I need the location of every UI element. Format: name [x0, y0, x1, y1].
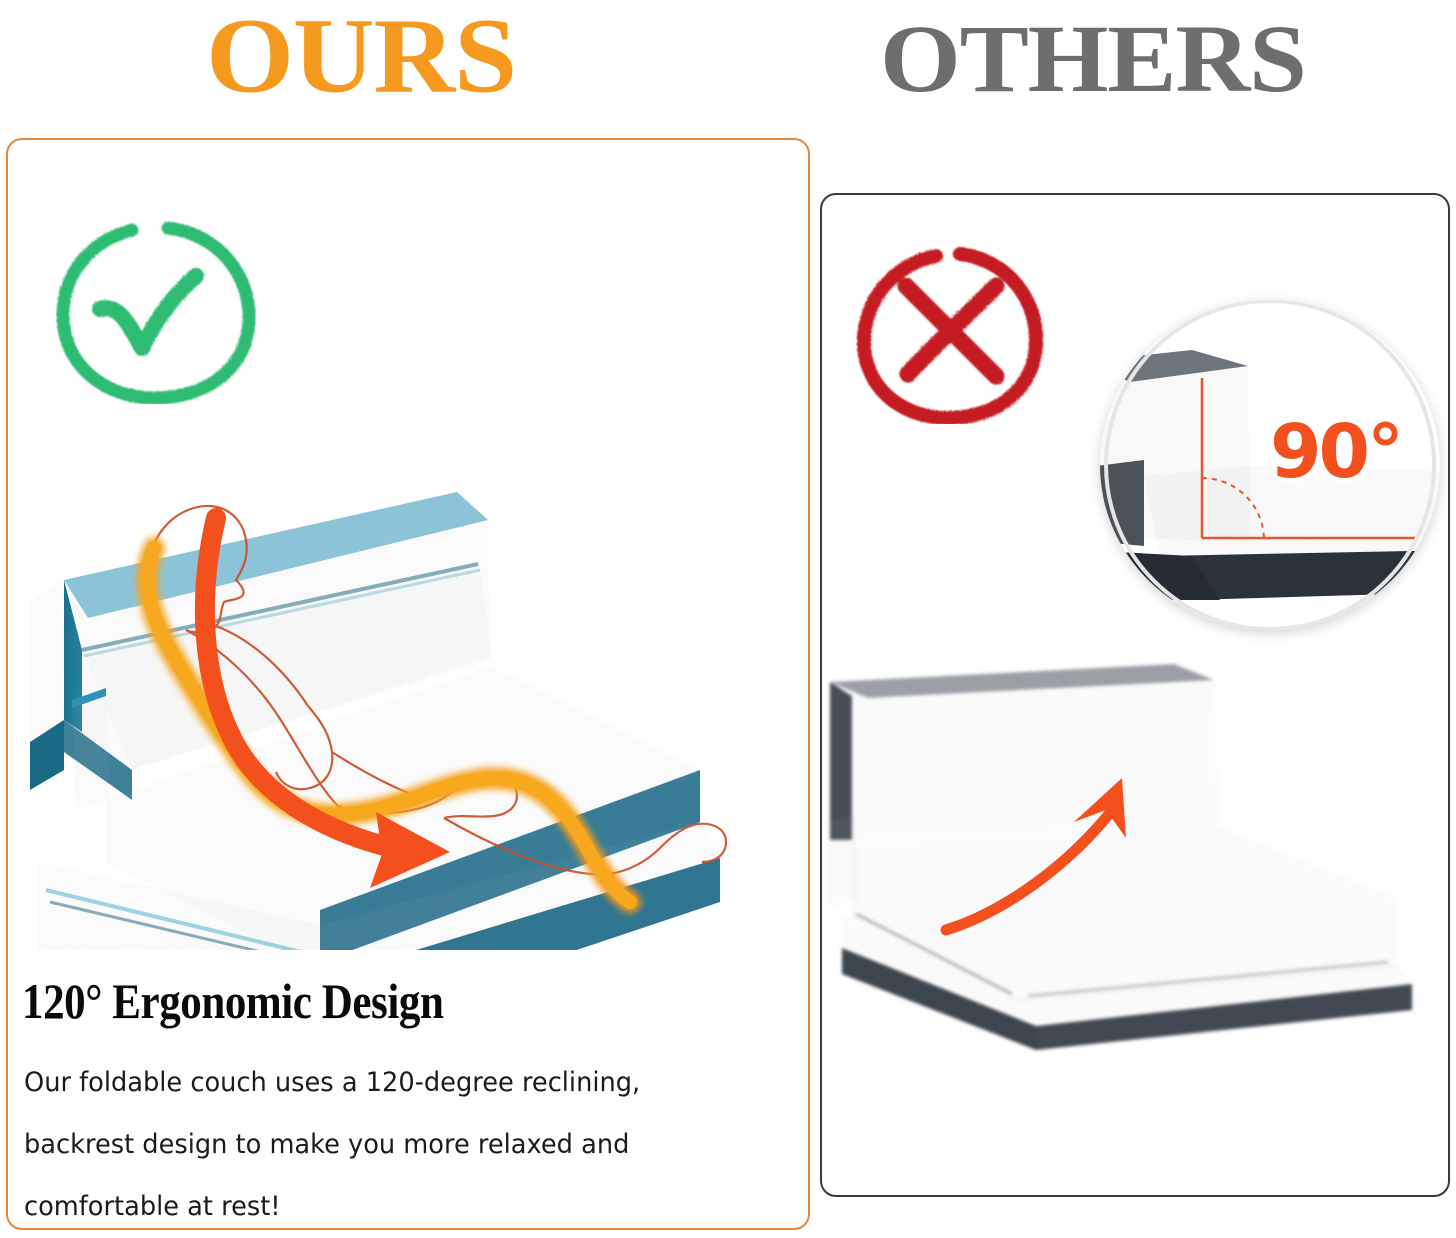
- check-circle-icon: [56, 214, 256, 404]
- teal-folding-sofa-bed: [20, 470, 760, 950]
- page-title: 120° Ergonomic Design: [22, 972, 676, 1030]
- feature-description: Our foldable couch uses a 120-degree rec…: [24, 1052, 756, 1238]
- feature-title-block: 120° Ergonomic Design: [22, 972, 782, 1030]
- x-circle-icon: [856, 244, 1046, 424]
- others-heading: OTHERS: [880, 12, 1306, 109]
- gray-folding-sofa-bed: [822, 630, 1442, 1070]
- ninety-degree-zoom-callout: 90°: [1100, 300, 1440, 630]
- ours-heading: OURS: [206, 2, 516, 110]
- angle-label: 90°: [1270, 415, 1401, 489]
- comparison-infographic: OURS OTHERS: [0, 0, 1456, 1236]
